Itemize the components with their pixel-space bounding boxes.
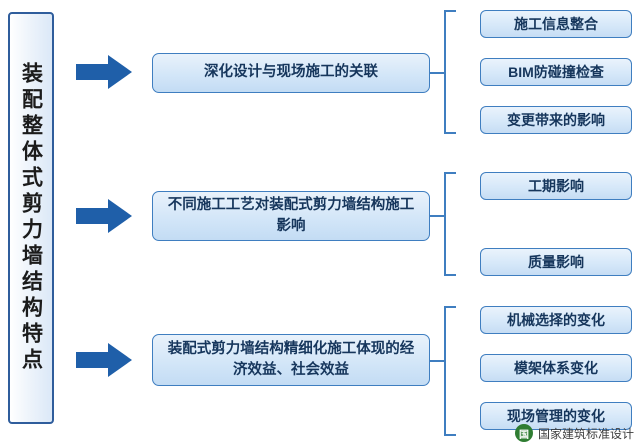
watermark-label: 国家建筑标准设计 [538,425,634,442]
arrow-to-branch-1 [76,55,132,89]
branch-1-child-1[interactable]: 施工信息整合 [480,10,632,38]
branch-2-child-2[interactable]: 质量影响 [480,248,632,276]
branch-1-node[interactable]: 深化设计与现场施工的关联 [152,53,430,93]
branch-2-connector [430,215,444,217]
arrow-to-branch-3 [76,343,132,377]
branch-1-connector [430,72,444,74]
watermark-logo-icon: 国 [515,424,533,442]
branch-2-bracket [444,172,456,276]
root-node-label: 装配整体式剪力墙结构特点 [21,62,42,374]
branch-1-child-2[interactable]: BIM防碰撞检查 [480,58,632,86]
branch-1-bracket [444,10,456,134]
branch-3-bracket [444,306,456,436]
branch-3-child-1[interactable]: 机械选择的变化 [480,306,632,334]
branch-2-child-1[interactable]: 工期影响 [480,172,632,200]
root-node: 装配整体式剪力墙结构特点 [8,12,54,424]
branch-3-child-2[interactable]: 模架体系变化 [480,354,632,382]
arrow-to-branch-2 [76,199,132,233]
branch-3-connector [430,360,444,362]
branch-2-node[interactable]: 不同施工工艺对装配式剪力墙结构施工影响 [152,191,430,241]
watermark: 国 国家建筑标准设计 [515,424,634,442]
diagram-canvas: 装配整体式剪力墙结构特点 深化设计与现场施工的关联 施工信息整合 BIM防碰撞检… [0,0,640,447]
branch-3-node[interactable]: 装配式剪力墙结构精细化施工体现的经济效益、社会效益 [152,334,430,386]
branch-1-child-3[interactable]: 变更带来的影响 [480,106,632,134]
